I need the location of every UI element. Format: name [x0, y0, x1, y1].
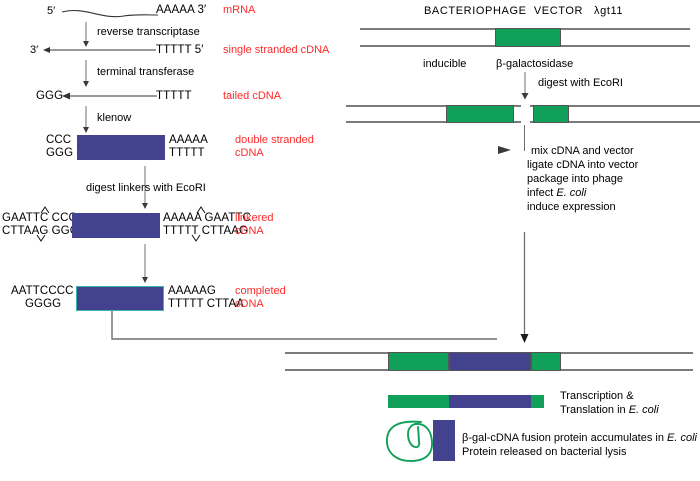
completed-cdna-red-label-line1: completed: [235, 285, 286, 298]
label-add-linkers: digest linkers with EcoRI: [86, 182, 206, 195]
completed-cdna-right-bottom-seq: TTTTT CTTAA: [168, 298, 244, 311]
transcription-label-line2: Translation in E. coli: [560, 404, 659, 417]
vector-to-mix-line: [524, 125, 525, 151]
completed-cdna-right-top-seq: AAAAAG: [168, 285, 216, 298]
vector-inducible-label: inducible: [423, 58, 466, 71]
protein-label-line1: β-gal-cDNA fusion protein accumulates in…: [462, 432, 697, 445]
protein-label-line1-organism: E. coli: [667, 432, 697, 444]
ds-cdna-block: [77, 135, 165, 160]
recombinant-betagal-segment: [388, 352, 449, 371]
arrow-to-recombinant: [518, 232, 532, 344]
mix-step-4: induce expression: [527, 201, 616, 214]
fusion-bar-betagal: [388, 395, 449, 408]
fusion-protein-cdna-part: [433, 420, 455, 461]
transcription-label-organism: E. coli: [629, 404, 659, 416]
label-klenow: klenow: [97, 112, 131, 125]
vector-betagal-region: [495, 28, 561, 47]
tailed-cdna-red-label: tailed cDNA: [223, 90, 281, 103]
linkered-cdna-block: [72, 213, 160, 238]
arrow-klenow: [80, 106, 92, 134]
fusion-bar-cdna: [449, 395, 531, 408]
linkered-right-caret-up-icon: [196, 206, 206, 214]
tailed-cdna-strand-arrow: [62, 89, 158, 103]
linkered-left-caret-up-icon: [40, 206, 50, 214]
tailed-cdna-ggg-label: GGG: [36, 90, 63, 103]
linkered-cdna-red-label-line2: cDNA: [235, 225, 264, 238]
ds-cdna-red-label-line1: double stranded: [235, 134, 314, 147]
arrow-digest-ecori: [519, 72, 531, 100]
linkered-left-caret-down-icon: [36, 234, 46, 242]
transcription-label-line2-text: Translation in: [560, 404, 629, 416]
label-digest-ecori: digest with EcoRI: [538, 77, 623, 90]
completed-cdna-red-label-line2: cDNA: [235, 298, 264, 311]
protein-label-line1-text: β-gal-cDNA fusion protein accumulates in: [462, 432, 667, 444]
ds-cdna-left-top-seq: CCC: [46, 134, 71, 147]
ds-cdna-right-top-seq: AAAAA: [169, 134, 208, 147]
tailed-cdna-right-label: TTTTT: [156, 90, 192, 103]
recombinant-cdna-insert: [449, 352, 531, 371]
mrna-red-label: mRNA: [223, 4, 255, 17]
ss-cdna-three-prime-label: 3′: [30, 44, 38, 57]
protein-label-line2: Protein released on bacterial lysis: [462, 446, 626, 459]
vector-right-arm-betagal: [533, 105, 569, 123]
mix-step-2: package into phage: [527, 173, 623, 186]
ss-cdna-right-label: TTTTT 5′: [156, 44, 203, 57]
ds-cdna-red-label-line2: cDNA: [235, 147, 264, 160]
mrna-wavy-line: [62, 4, 162, 22]
ds-cdna-left-bottom-seq: GGG: [46, 147, 73, 160]
arrow-terminal-transferase: [80, 60, 92, 88]
mix-step-3-text: infect: [527, 187, 556, 199]
vector-title: BACTERIOPHAGE VECTOR λgt11: [424, 5, 623, 17]
mix-step-0: mix cDNA and vector: [531, 145, 634, 158]
recombinant-betagal-tail: [531, 352, 561, 371]
mix-step-1: ligate cDNA into vector: [527, 159, 638, 172]
mrna-polya-label: AAAAA 3′: [156, 4, 206, 17]
completed-cdna-block: [76, 286, 164, 311]
label-terminal-transferase: terminal transferase: [97, 66, 194, 79]
arrow-digest-linkers: [139, 244, 151, 284]
ds-cdna-right-bottom-seq: TTTTT: [169, 147, 205, 160]
vector-betagal-label: β-galactosidase: [496, 58, 573, 71]
mrna-five-prime-label: 5′: [47, 5, 55, 18]
linkered-right-caret-down-icon: [191, 234, 201, 242]
ss-cdna-strand-arrow: [42, 43, 158, 57]
transcription-label-line1: Transcription &: [560, 390, 634, 403]
mix-inbound-arrowhead-icon: [498, 143, 514, 157]
vector-left-arm-betagal: [446, 105, 514, 123]
mix-step-3-organism: E. coli: [556, 187, 586, 199]
label-reverse-transcriptase: reverse transcriptase: [97, 26, 200, 39]
mix-step-3: infect E. coli: [527, 187, 586, 200]
linkered-cdna-red-label-line1: linkered: [235, 212, 274, 225]
completed-cdna-left-top-seq: AATTCCCC: [11, 285, 74, 298]
ss-cdna-red-label: single stranded cDNA: [223, 44, 329, 57]
fusion-bar-betagal-tail: [531, 395, 544, 408]
completed-cdna-left-bottom-seq: GGGG: [25, 298, 61, 311]
